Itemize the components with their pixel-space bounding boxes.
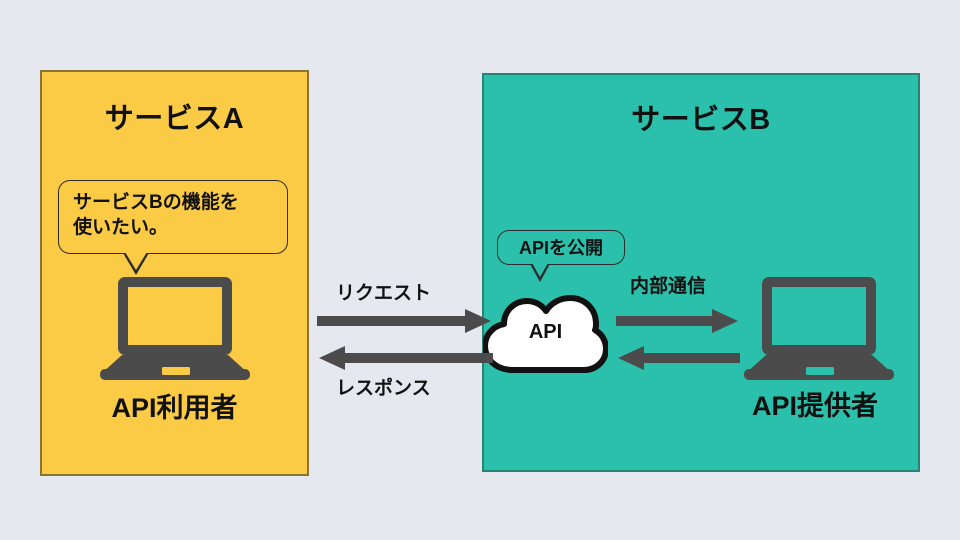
service-a-speech-bubble: サービスBの機能を 使いたい。 bbox=[58, 180, 288, 254]
laptop-icon bbox=[100, 277, 250, 380]
service-b-bubble-tail-fill bbox=[532, 263, 548, 277]
internal-reverse-arrow bbox=[616, 345, 740, 371]
service-a-bubble-line-1: サービスBの機能を bbox=[73, 190, 287, 215]
service-a-bubble-tail-fill bbox=[125, 252, 147, 270]
service-a-title: サービスA bbox=[42, 105, 307, 134]
diagram-canvas: サービスA サービスBの機能を 使いたい。 API利用者 サービスB APIを公… bbox=[0, 0, 960, 540]
response-arrow bbox=[317, 345, 493, 371]
internal-comm-label: 内部通信 bbox=[630, 277, 706, 296]
cloud-label: API bbox=[483, 322, 608, 342]
response-arrow-label: レスポンス bbox=[336, 379, 431, 398]
service-a-bubble-line-2: 使いたい。 bbox=[73, 215, 287, 240]
service-b-speech-bubble: APIを公開 bbox=[497, 230, 625, 265]
internal-forward-arrow bbox=[616, 308, 740, 334]
service-b-title: サービスB bbox=[484, 106, 918, 135]
service-b-role-label: API提供者 bbox=[700, 393, 930, 420]
request-arrow-label: リクエスト bbox=[336, 284, 431, 303]
service-a-role-label: API利用者 bbox=[40, 395, 309, 422]
request-arrow bbox=[317, 308, 493, 334]
laptop-icon bbox=[744, 277, 894, 380]
